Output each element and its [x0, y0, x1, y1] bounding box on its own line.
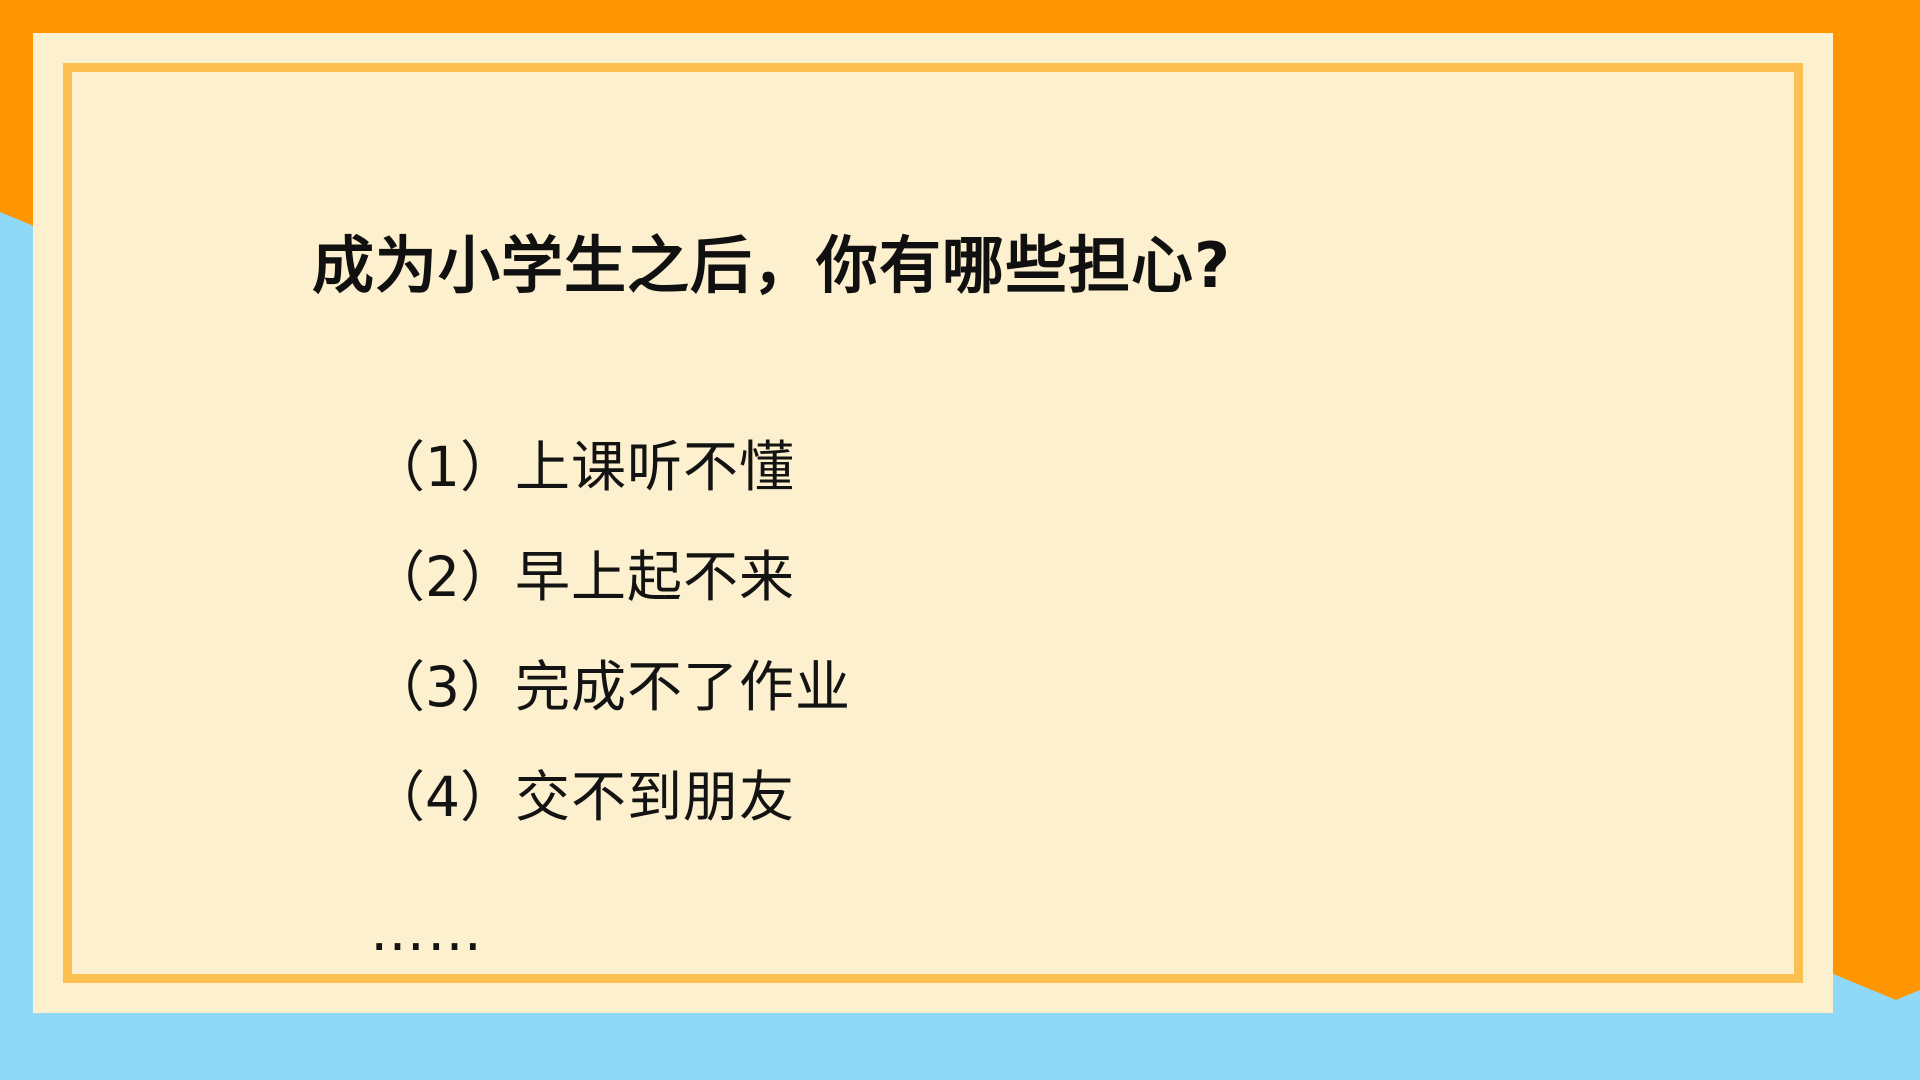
slide-canvas: 成为小学生之后，你有哪些担心? （1） 上课听不懂 （2） 早上起不来 （3） … — [0, 0, 1920, 1080]
list-item-label: 完成不了作业 — [515, 660, 851, 715]
list-item: （4） 交不到朋友 — [370, 770, 851, 825]
list-item-number: （2） — [370, 550, 515, 605]
list-item-number: （1） — [370, 440, 515, 495]
list-item-label: 交不到朋友 — [515, 770, 795, 825]
ellipsis-text: …… — [370, 904, 484, 959]
list-item: （1） 上课听不懂 — [370, 440, 851, 495]
page-title: 成为小学生之后，你有哪些担心? — [312, 232, 1231, 300]
list-item-label: 早上起不来 — [515, 550, 795, 605]
panel-content-area: 成为小学生之后，你有哪些担心? （1） 上课听不懂 （2） 早上起不来 （3） … — [72, 72, 1794, 974]
panel-inner-border: 成为小学生之后，你有哪些担心? （1） 上课听不懂 （2） 早上起不来 （3） … — [63, 63, 1803, 983]
list-item: （2） 早上起不来 — [370, 550, 851, 605]
list-item-number: （4） — [370, 770, 515, 825]
list-item-number: （3） — [370, 660, 515, 715]
concerns-list: （1） 上课听不懂 （2） 早上起不来 （3） 完成不了作业 （4） 交不到朋友 — [370, 440, 851, 880]
content-panel: 成为小学生之后，你有哪些担心? （1） 上课听不懂 （2） 早上起不来 （3） … — [33, 33, 1833, 1013]
list-item: （3） 完成不了作业 — [370, 660, 851, 715]
list-item-label: 上课听不懂 — [515, 440, 795, 495]
